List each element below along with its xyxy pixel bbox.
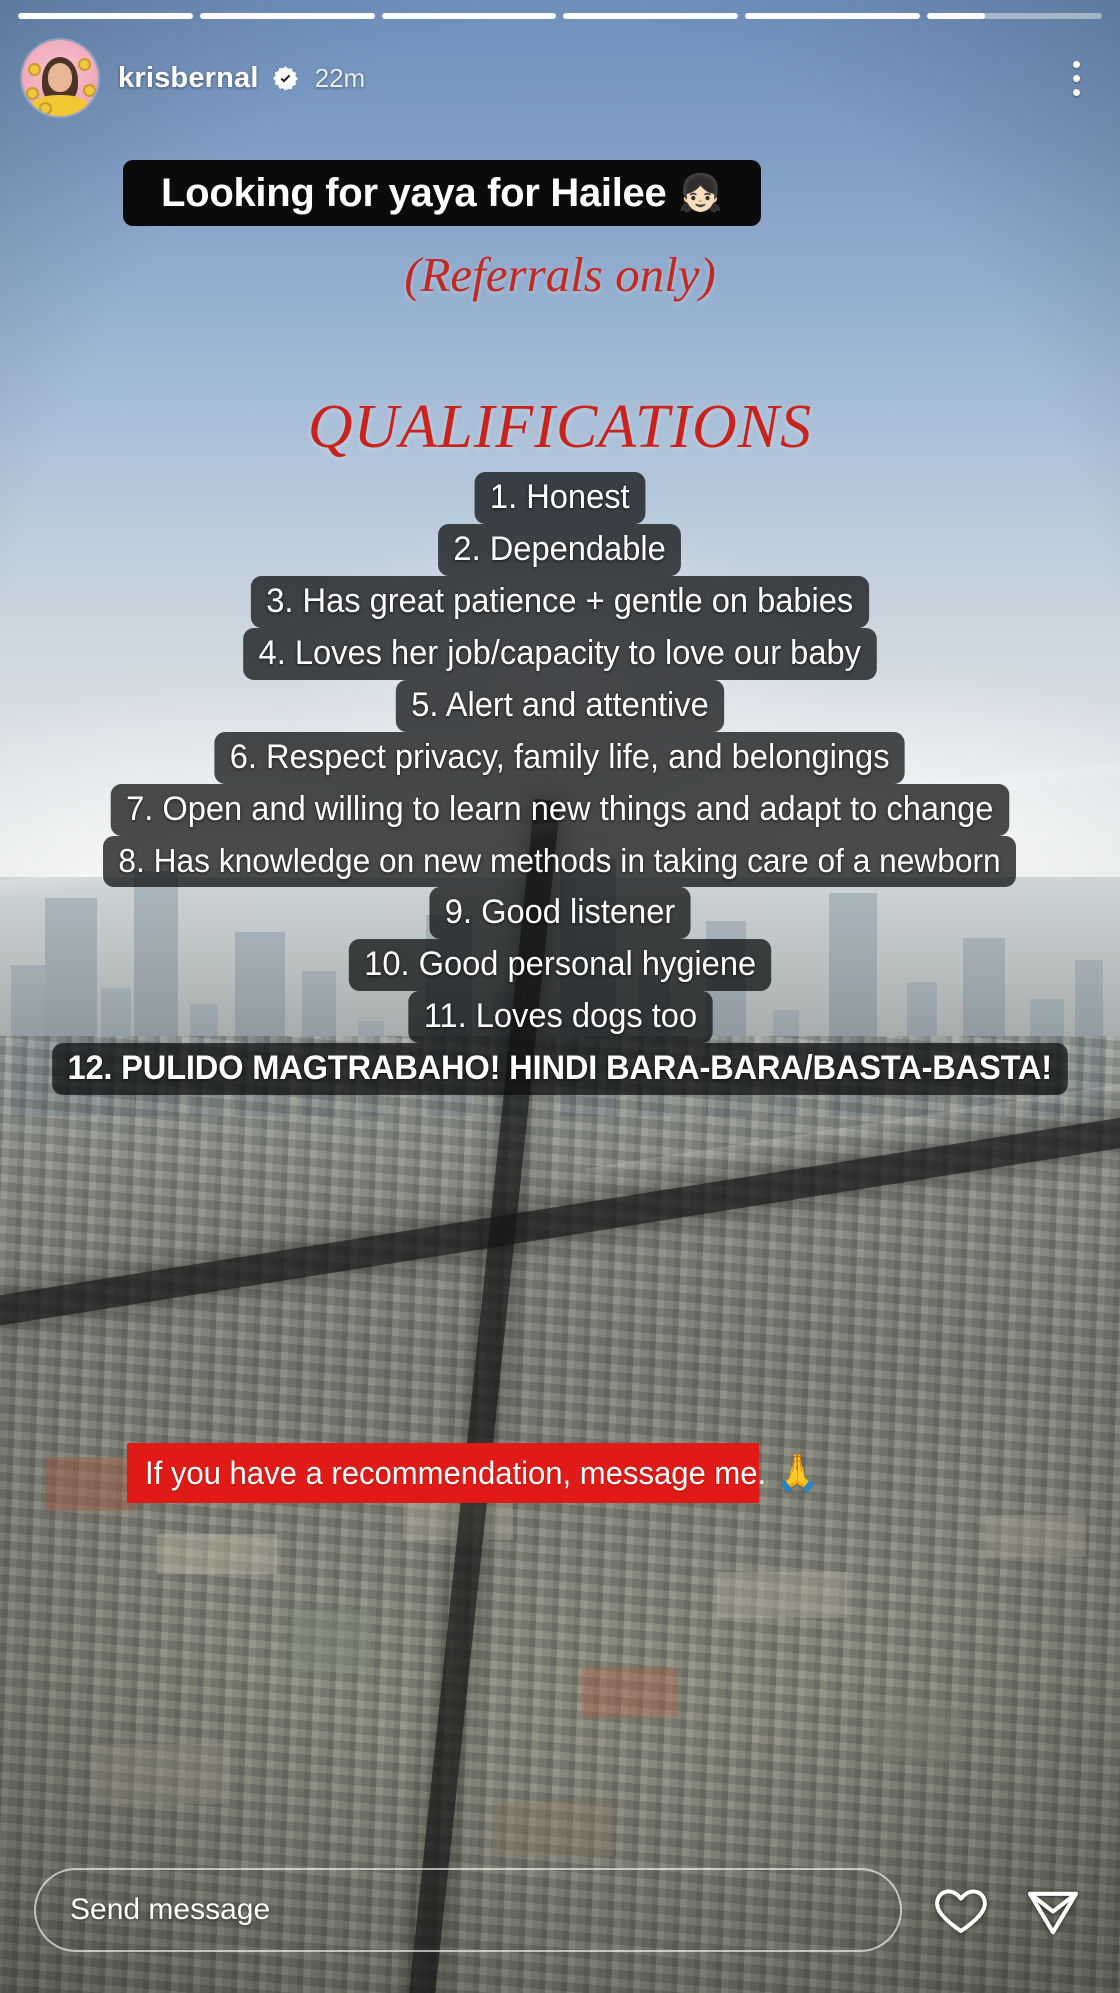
progress-segment[interactable] xyxy=(18,13,193,19)
progress-segment-current[interactable] xyxy=(927,13,1102,19)
qualifications-heading: QUALIFICATIONS xyxy=(0,392,1120,463)
sunflower-icon xyxy=(28,63,41,76)
story-subtitle: (Referrals only) xyxy=(0,246,1120,303)
qualification-item: 4. Loves her job/capacity to love our ba… xyxy=(243,628,876,680)
send-message-placeholder: Send message xyxy=(70,1893,270,1927)
sunflower-icon xyxy=(26,87,39,100)
story-title-text: Looking for yaya for Hailee xyxy=(161,171,666,216)
qualification-item: 9. Good listener xyxy=(429,887,690,939)
qualification-item: 11. Loves dogs too xyxy=(408,991,712,1043)
avatar-face xyxy=(48,63,72,92)
progress-segment[interactable] xyxy=(745,13,920,19)
send-paper-plane-icon[interactable] xyxy=(1020,1877,1086,1943)
instagram-story-viewer: krisbernal 22m Looking for yaya for Hail… xyxy=(0,0,1120,1993)
qualification-item: 10. Good personal hygiene xyxy=(349,939,772,991)
progress-segment[interactable] xyxy=(563,13,738,19)
praying-hands-emoji: 🙏 xyxy=(776,1455,819,1491)
story-header: krisbernal 22m xyxy=(0,38,1120,118)
qualification-item: 12. PULIDO MAGTRABAHO! HINDI BARA-BARA/B… xyxy=(52,1043,1067,1095)
story-content: Looking for yaya for Hailee 👧🏻 (Referral… xyxy=(0,0,1120,1993)
story-footer: Send message xyxy=(0,1843,1120,1993)
avatar[interactable] xyxy=(22,40,98,116)
cta-banner: If you have a recommendation, message me… xyxy=(127,1443,759,1503)
story-timestamp: 22m xyxy=(315,63,366,94)
progress-segment[interactable] xyxy=(200,13,375,19)
sunflower-icon xyxy=(78,58,91,71)
qualification-item: 1. Honest xyxy=(475,472,645,524)
sunflower-icon xyxy=(83,84,96,97)
qualifications-list: 1. Honest2. Dependable3. Has great patie… xyxy=(0,472,1120,1095)
qualification-item: 8. Has knowledge on new methods in takin… xyxy=(103,836,1016,887)
sunflower-icon xyxy=(39,102,52,115)
username[interactable]: krisbernal xyxy=(118,62,259,95)
cta-text: If you have a recommendation, message me… xyxy=(145,1455,766,1492)
qualification-item: 6. Respect privacy, family life, and bel… xyxy=(215,732,906,784)
story-progress-bar[interactable] xyxy=(18,13,1102,19)
verified-badge-icon xyxy=(272,65,299,92)
qualification-item: 5. Alert and attentive xyxy=(396,680,724,732)
heart-icon[interactable] xyxy=(928,1877,994,1943)
girl-emoji: 👧🏻 xyxy=(678,175,723,211)
qualification-item: 7. Open and willing to learn new things … xyxy=(111,784,1009,836)
story-title-banner: Looking for yaya for Hailee 👧🏻 xyxy=(123,160,761,226)
kebab-menu-icon[interactable] xyxy=(1054,56,1098,100)
progress-segment[interactable] xyxy=(382,13,557,19)
send-message-input[interactable]: Send message xyxy=(34,1868,902,1952)
qualification-item: 2. Dependable xyxy=(438,524,681,576)
qualification-item: 3. Has great patience + gentle on babies xyxy=(251,576,869,628)
